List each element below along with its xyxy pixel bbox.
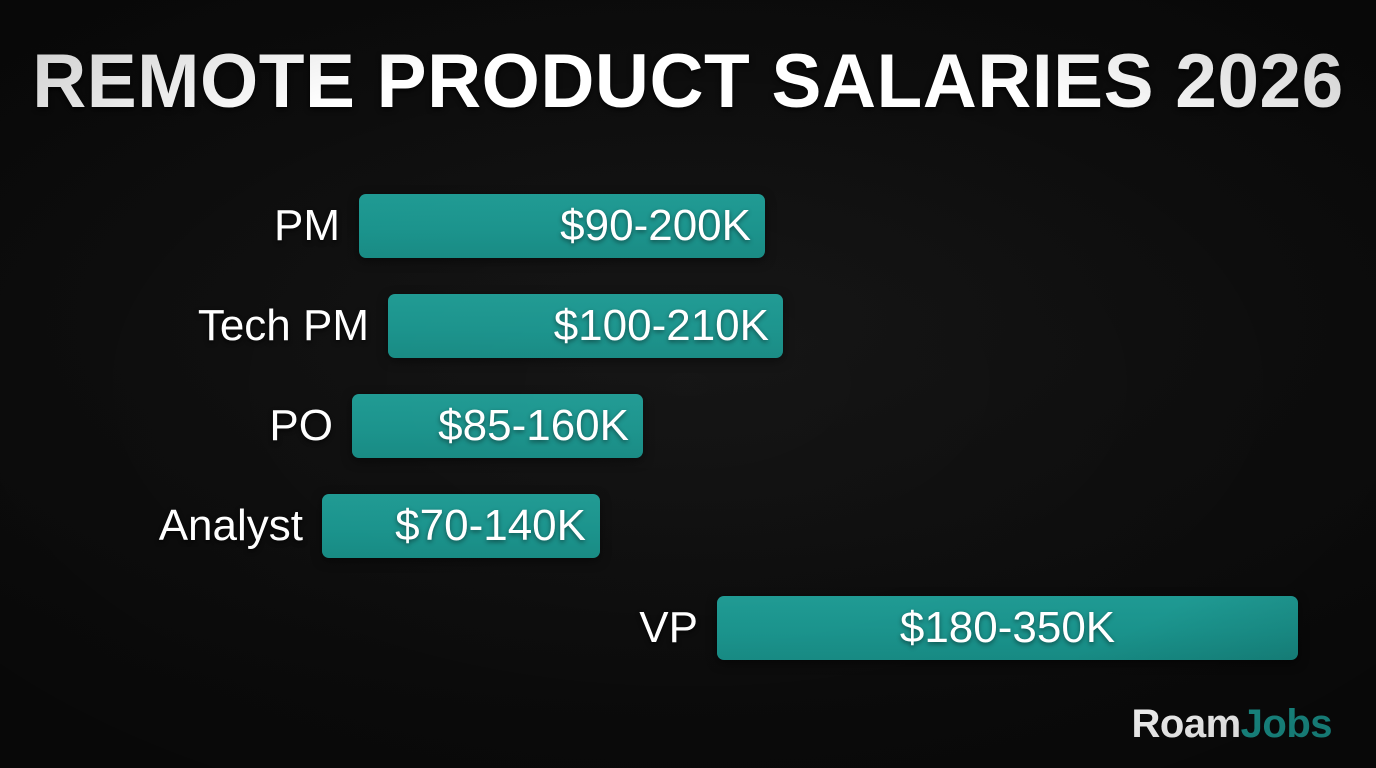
bar-category-label: Tech PM <box>198 304 369 348</box>
brand-logo-primary: Roam <box>1132 702 1241 746</box>
bar-category-label: PO <box>269 404 333 448</box>
chart-row-po: PO $85-160K <box>352 394 643 458</box>
bar-po: $85-160K <box>352 394 643 458</box>
chart-row-pm: PM $90-200K <box>359 194 765 258</box>
bar-category-label: Analyst <box>159 504 303 548</box>
bar-value-label: $70-140K <box>395 504 586 548</box>
chart-row-vp: VP $180-350K <box>717 596 1298 660</box>
salary-chart-graphic: REMOTE PRODUCT SALARIES 2026 PM $90-200K… <box>0 0 1376 768</box>
bar-vp: $180-350K <box>717 596 1298 660</box>
bar-value-label: $90-200K <box>560 204 751 248</box>
brand-logo-secondary: Jobs <box>1241 702 1332 746</box>
bar-value-label: $100-210K <box>554 304 769 348</box>
brand-logo: RoamJobs <box>1132 704 1333 744</box>
bar-value-label: $180-350K <box>900 606 1115 650</box>
bar-tech-pm: $100-210K <box>388 294 783 358</box>
bar-category-label: PM <box>274 204 340 248</box>
bar-category-label: VP <box>639 606 698 650</box>
chart-row-tech-pm: Tech PM $100-210K <box>388 294 783 358</box>
bar-value-label: $85-160K <box>438 404 629 448</box>
chart-row-analyst: Analyst $70-140K <box>322 494 600 558</box>
bar-chart: PM $90-200K Tech PM $100-210K PO $85-160… <box>0 0 1376 768</box>
bar-pm: $90-200K <box>359 194 765 258</box>
bar-analyst: $70-140K <box>322 494 600 558</box>
